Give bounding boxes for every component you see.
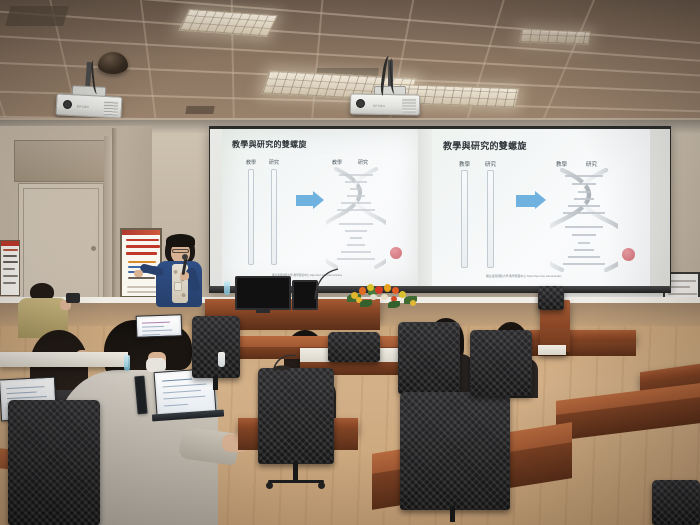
projector-brand-label: EPSON <box>77 104 89 109</box>
arrow-right-icon <box>313 191 324 209</box>
ceiling-light-panel <box>519 29 591 45</box>
lecture-hall-photo: EPSON EPSON <box>0 0 700 525</box>
hand-sanitizer <box>218 352 225 367</box>
ceiling-vent <box>185 106 214 114</box>
presenter-hand-left <box>134 270 143 277</box>
bar-label-research: 研究 <box>485 160 496 168</box>
dna-helix-graphic <box>326 167 386 269</box>
decorative-dot <box>622 248 635 261</box>
projection-screen: 教學與研究的雙螺旋 教學 研究 教學 研究 <box>209 126 671 289</box>
bar-research <box>271 169 277 265</box>
arrow-right-icon <box>296 195 313 206</box>
name-badge <box>174 282 182 291</box>
bar-research <box>487 170 494 268</box>
lectern-right-top <box>538 345 566 355</box>
water-bottle <box>224 281 230 295</box>
helix-label-research: 研究 <box>358 159 368 166</box>
side-poster <box>0 240 20 296</box>
helix-label-teaching: 教學 <box>556 160 567 168</box>
gooseneck-microphone <box>312 268 342 302</box>
door-transom <box>14 140 108 182</box>
bar-teaching <box>248 169 254 265</box>
wall-corner-edge <box>112 128 117 316</box>
door-knob-icon[interactable] <box>91 246 96 251</box>
slide-left: 教學與研究的雙螺旋 教學 研究 教學 研究 <box>222 129 418 286</box>
bar-teaching <box>461 170 468 268</box>
slide-footer: 國立臺灣師範大學 教學發展中心 https://tpc.ntnu.edu.tw/… <box>486 274 562 278</box>
ceiling-vent <box>5 6 69 26</box>
projector-brand-label: EPSON <box>373 104 385 108</box>
dome-camera-icon <box>98 52 128 74</box>
glasses-icon <box>172 249 189 253</box>
monitor-stand <box>256 308 270 313</box>
dna-helix-graphic <box>550 168 618 272</box>
bar-label-teaching: 教學 <box>246 159 256 166</box>
face-mask-icon <box>146 358 166 372</box>
slide-title: 教學與研究的雙螺旋 <box>443 139 527 152</box>
slide-right: 教學與研究的雙螺旋 教學 研究 教學 研究 <box>432 129 650 286</box>
desk-left-mid <box>0 352 128 367</box>
arrow-right-icon <box>516 195 535 207</box>
podium-monitor <box>235 276 291 310</box>
slide-title: 教學與研究的雙螺旋 <box>232 139 307 150</box>
helix-label-teaching: 教學 <box>332 159 342 166</box>
phone-icon <box>66 293 80 303</box>
laptop-screen[interactable] <box>136 314 183 338</box>
decorative-dot <box>390 247 402 259</box>
microphone-head-icon <box>182 254 188 260</box>
table-microphone <box>272 352 298 370</box>
bar-label-teaching: 教學 <box>459 160 470 168</box>
slide-gap <box>418 129 432 286</box>
projector-lens <box>356 99 365 108</box>
presenter-hair-front <box>166 234 195 247</box>
screen-surface: 教學與研究的雙螺旋 教學 研究 教學 研究 <box>210 129 670 286</box>
helix-label-research: 研究 <box>586 160 597 168</box>
bar-label-research: 研究 <box>269 159 279 166</box>
water-bottle <box>124 355 130 371</box>
projector-lens <box>63 100 72 109</box>
arrow-right-icon <box>535 191 546 209</box>
